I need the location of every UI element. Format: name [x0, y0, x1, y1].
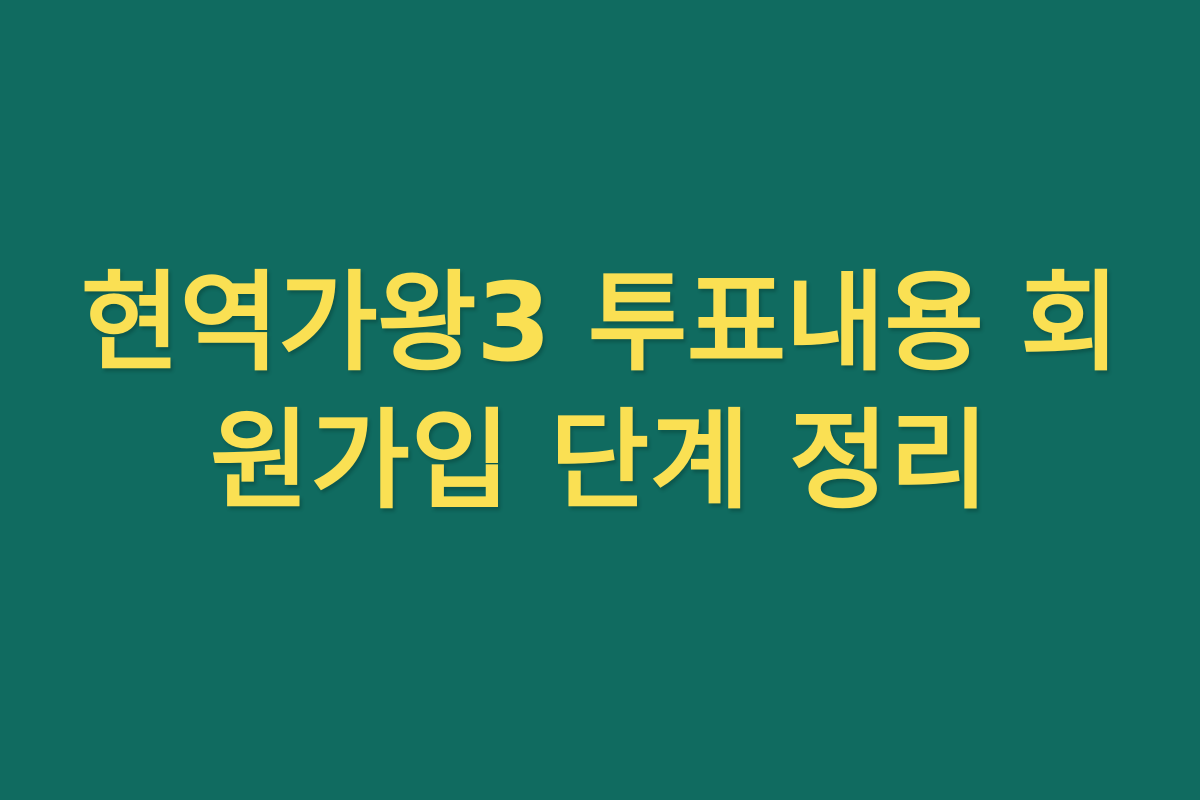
title-line-1: 현역가왕3 투표내용 회: [0, 255, 1200, 393]
thumbnail-card: 현역가왕3 투표내용 회 원가입 단계 정리: [0, 0, 1200, 800]
title-block: 현역가왕3 투표내용 회 원가입 단계 정리: [0, 255, 1200, 531]
title-line-2: 원가입 단계 정리: [0, 393, 1200, 531]
